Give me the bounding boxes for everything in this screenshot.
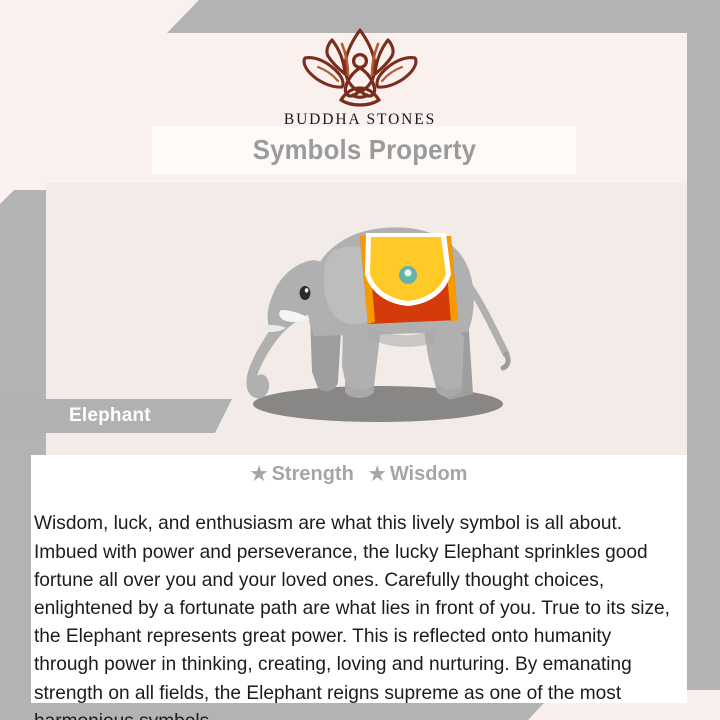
elephant-eye-highlight xyxy=(305,288,309,293)
symbol-name: Elephant xyxy=(69,405,151,427)
trait-item-strength: ★Strength xyxy=(251,463,354,486)
saddle-gem-highlight xyxy=(404,269,411,276)
title-banner: Symbols Property xyxy=(152,126,576,174)
decorative-band-right xyxy=(687,0,720,690)
description-text: Wisdom, luck, and enthusiasm are what th… xyxy=(34,509,676,720)
lotus-meditation-icon xyxy=(285,22,435,110)
trait-list: ★Strength★Wisdom xyxy=(31,463,687,486)
page-title: Symbols Property xyxy=(252,134,475,166)
symbol-name-banner: Elephant xyxy=(0,399,232,433)
star-icon: ★ xyxy=(369,465,386,484)
elephant-eye xyxy=(300,286,311,300)
trait-item-wisdom: ★Wisdom xyxy=(369,463,468,486)
trait-label-strength: Strength xyxy=(272,463,354,485)
description-panel: ★Strength★Wisdom Wisdom, luck, and enthu… xyxy=(31,455,687,703)
trait-label-wisdom: Wisdom xyxy=(390,463,468,485)
walking-elephant-illustration xyxy=(218,196,528,426)
star-icon: ★ xyxy=(251,465,268,484)
brand-logo: BUDDHA STONES xyxy=(265,22,455,129)
elephant-tail xyxy=(468,284,506,354)
infographic-card: BUDDHA STONES Symbols Property xyxy=(0,0,720,720)
